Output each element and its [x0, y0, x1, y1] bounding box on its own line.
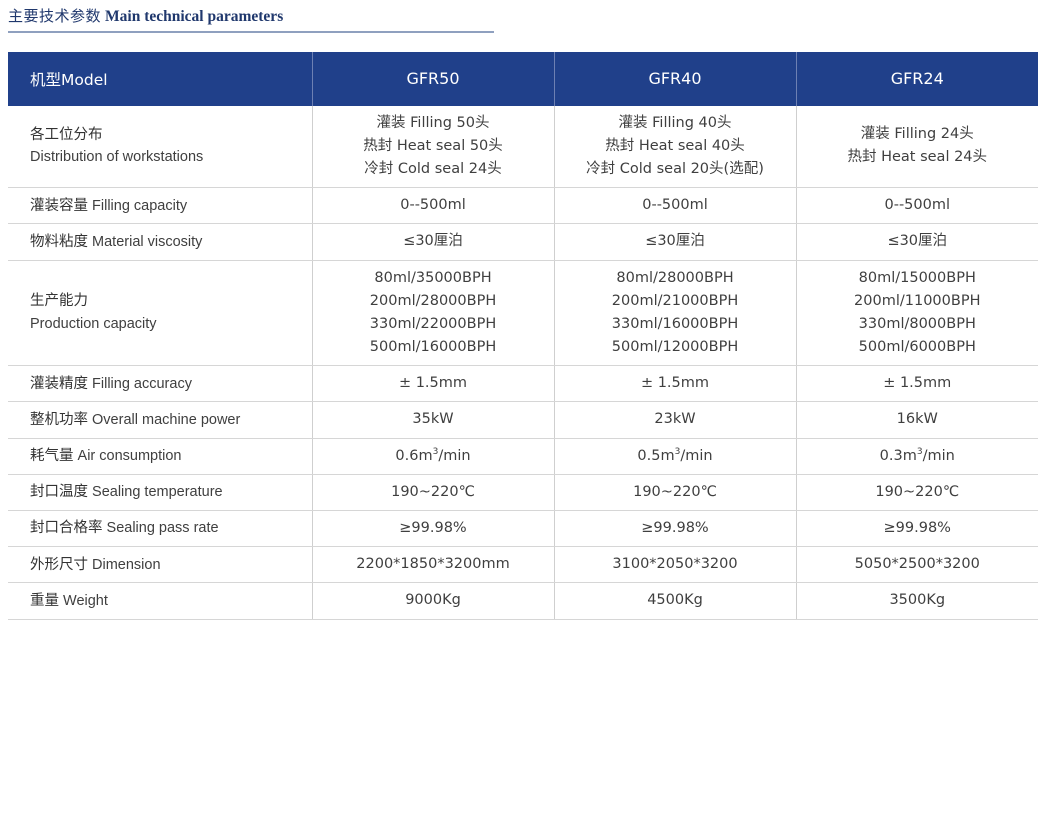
- row-label: 生产能力Production capacity: [8, 260, 312, 366]
- table-row: 物料粘度 Material viscosity≤30厘泊≤30厘泊≤30厘泊: [8, 224, 1038, 260]
- row-label-cn: 灌装容量: [30, 198, 88, 214]
- row-label: 物料粘度 Material viscosity: [8, 224, 312, 260]
- cell-gfr50: 0.6m3/min: [312, 438, 554, 474]
- column-header-gfr50: GFR50: [312, 52, 554, 106]
- table-row: 封口合格率 Sealing pass rate≥99.98%≥99.98%≥99…: [8, 511, 1038, 547]
- row-label-en: Air consumption: [78, 448, 182, 464]
- cell-gfr40: 0.5m3/min: [554, 438, 796, 474]
- column-header-model: 机型Model: [8, 52, 312, 106]
- cell-gfr50: 9000Kg: [312, 583, 554, 619]
- cell-line: 23kW: [555, 408, 796, 431]
- cell-gfr40: 23kW: [554, 402, 796, 438]
- table-row: 封口温度 Sealing temperature190~220℃190~220℃…: [8, 474, 1038, 510]
- row-label: 重量 Weight: [8, 583, 312, 619]
- cell-gfr40: 灌装 Filling 40头热封 Heat seal 40头冷封 Cold se…: [554, 106, 796, 188]
- cell-gfr24: ≥99.98%: [796, 511, 1038, 547]
- cell-line: 冷封 Cold seal 24头: [313, 158, 554, 181]
- cell-line: ≤30厘泊: [797, 230, 1039, 253]
- cell-gfr50: 灌装 Filling 50头热封 Heat seal 50头冷封 Cold se…: [312, 106, 554, 188]
- page-title-en: Main technical parameters: [105, 8, 283, 25]
- cell-gfr50: 35kW: [312, 402, 554, 438]
- row-label-cn: 外形尺寸: [30, 557, 88, 573]
- row-label-en: Sealing temperature: [92, 484, 223, 500]
- cell-gfr50: ≤30厘泊: [312, 224, 554, 260]
- table-body: 各工位分布Distribution of workstations灌装 Fill…: [8, 106, 1038, 620]
- cell-gfr40: ≤30厘泊: [554, 224, 796, 260]
- cell-gfr40: 0--500ml: [554, 188, 796, 224]
- title-underline: [8, 31, 494, 33]
- column-header-gfr24: GFR24: [796, 52, 1038, 106]
- cell-line: 5050*2500*3200: [797, 553, 1039, 576]
- row-label: 整机功率 Overall machine power: [8, 402, 312, 438]
- cell-gfr50: ± 1.5mm: [312, 366, 554, 402]
- cell-line: ± 1.5mm: [797, 372, 1039, 395]
- row-label: 耗气量 Air consumption: [8, 438, 312, 474]
- cell-gfr50: 2200*1850*3200mm: [312, 547, 554, 583]
- cell-line: 热封 Heat seal 50头: [313, 135, 554, 158]
- cell-gfr24: 3500Kg: [796, 583, 1038, 619]
- cell-line: 2200*1850*3200mm: [313, 553, 554, 576]
- cell-line: 热封 Heat seal 40头: [555, 135, 796, 158]
- cell-line: ≥99.98%: [797, 517, 1039, 540]
- table-row: 重量 Weight9000Kg4500Kg3500Kg: [8, 583, 1038, 619]
- cell-line: 0.3m3/min: [797, 445, 1039, 468]
- table-row: 生产能力Production capacity80ml/35000BPH200m…: [8, 260, 1038, 366]
- row-label-en: Material viscosity: [92, 234, 202, 250]
- row-label-en: Sealing pass rate: [107, 520, 219, 536]
- page-title-cn: 主要技术参数: [8, 7, 101, 25]
- table-row: 整机功率 Overall machine power35kW23kW16kW: [8, 402, 1038, 438]
- cell-gfr40: 4500Kg: [554, 583, 796, 619]
- row-label-cn: 物料粘度: [30, 234, 88, 250]
- cell-gfr40: ≥99.98%: [554, 511, 796, 547]
- column-header-gfr40: GFR40: [554, 52, 796, 106]
- row-label-cn: 封口合格率: [30, 520, 103, 536]
- cell-gfr40: 80ml/28000BPH200ml/21000BPH330ml/16000BP…: [554, 260, 796, 366]
- cell-gfr50: 80ml/35000BPH200ml/28000BPH330ml/22000BP…: [312, 260, 554, 366]
- table-row: 耗气量 Air consumption0.6m3/min0.5m3/min0.3…: [8, 438, 1038, 474]
- cell-line: 灌装 Filling 40头: [555, 112, 796, 135]
- cell-line: 冷封 Cold seal 20头(选配): [555, 158, 796, 181]
- table-row: 外形尺寸 Dimension2200*1850*3200mm3100*2050*…: [8, 547, 1038, 583]
- row-label: 封口合格率 Sealing pass rate: [8, 511, 312, 547]
- cell-line: 3500Kg: [797, 589, 1039, 612]
- cell-line: 35kW: [313, 408, 554, 431]
- row-label-cn: 各工位分布: [30, 127, 103, 143]
- row-label: 封口温度 Sealing temperature: [8, 474, 312, 510]
- cell-gfr24: 80ml/15000BPH200ml/11000BPH330ml/8000BPH…: [796, 260, 1038, 366]
- row-label: 各工位分布Distribution of workstations: [8, 106, 312, 188]
- row-label-en: Filling accuracy: [92, 376, 192, 392]
- row-label-en: Production capacity: [30, 316, 157, 332]
- cell-line: 灌装 Filling 24头: [797, 123, 1039, 146]
- cell-line: 80ml/28000BPH: [555, 267, 796, 290]
- cell-line: 0--500ml: [797, 194, 1039, 217]
- cell-gfr50: ≥99.98%: [312, 511, 554, 547]
- row-label-en: Distribution of workstations: [30, 149, 203, 165]
- cell-line: 4500Kg: [555, 589, 796, 612]
- cell-line: 500ml/6000BPH: [797, 336, 1039, 359]
- cell-gfr24: ± 1.5mm: [796, 366, 1038, 402]
- cell-line: ≤30厘泊: [555, 230, 796, 253]
- cell-line: 9000Kg: [313, 589, 554, 612]
- row-label-cn: 耗气量: [30, 448, 74, 464]
- cell-gfr24: 0--500ml: [796, 188, 1038, 224]
- cell-line: 200ml/11000BPH: [797, 290, 1039, 313]
- row-label-en: Overall machine power: [92, 412, 240, 428]
- cell-line: 190~220℃: [313, 481, 554, 504]
- cell-gfr40: 190~220℃: [554, 474, 796, 510]
- table-header: 机型Model GFR50 GFR40 GFR24: [8, 52, 1038, 106]
- cell-line: 0--500ml: [313, 194, 554, 217]
- page-title-block: 主要技术参数Main technical parameters: [0, 0, 494, 33]
- cell-line: ≤30厘泊: [313, 230, 554, 253]
- cell-gfr40: 3100*2050*3200: [554, 547, 796, 583]
- row-label-cn: 封口温度: [30, 484, 88, 500]
- spec-table-wrapper: 机型Model GFR50 GFR40 GFR24 各工位分布Distribut…: [8, 52, 1038, 620]
- cell-line: 200ml/28000BPH: [313, 290, 554, 313]
- cell-line: ± 1.5mm: [555, 372, 796, 395]
- cell-line: 500ml/12000BPH: [555, 336, 796, 359]
- cell-gfr50: 190~220℃: [312, 474, 554, 510]
- cell-line: ± 1.5mm: [313, 372, 554, 395]
- page-title: 主要技术参数Main technical parameters: [8, 8, 494, 26]
- cell-gfr24: 190~220℃: [796, 474, 1038, 510]
- cell-line: 330ml/8000BPH: [797, 313, 1039, 336]
- cell-line: 80ml/35000BPH: [313, 267, 554, 290]
- row-label-cn: 整机功率: [30, 412, 88, 428]
- cell-line: 16kW: [797, 408, 1039, 431]
- cell-line: 190~220℃: [797, 481, 1039, 504]
- cell-line: ≥99.98%: [313, 517, 554, 540]
- cell-gfr40: ± 1.5mm: [554, 366, 796, 402]
- cell-line: 500ml/16000BPH: [313, 336, 554, 359]
- row-label-cn: 灌装精度: [30, 376, 88, 392]
- row-label: 外形尺寸 Dimension: [8, 547, 312, 583]
- cell-gfr24: 5050*2500*3200: [796, 547, 1038, 583]
- table-row: 灌装容量 Filling capacity0--500ml0--500ml0--…: [8, 188, 1038, 224]
- row-label-cn: 生产能力: [30, 293, 88, 309]
- cell-gfr24: 16kW: [796, 402, 1038, 438]
- row-label: 灌装容量 Filling capacity: [8, 188, 312, 224]
- cell-gfr50: 0--500ml: [312, 188, 554, 224]
- table-header-row: 机型Model GFR50 GFR40 GFR24: [8, 52, 1038, 106]
- row-label-cn: 重量: [30, 593, 59, 609]
- cell-line: 灌装 Filling 50头: [313, 112, 554, 135]
- row-label-en: Filling capacity: [92, 198, 187, 214]
- cell-line: 3100*2050*3200: [555, 553, 796, 576]
- cell-line: 0--500ml: [555, 194, 796, 217]
- cell-line: 80ml/15000BPH: [797, 267, 1039, 290]
- cell-gfr24: ≤30厘泊: [796, 224, 1038, 260]
- cell-line: ≥99.98%: [555, 517, 796, 540]
- row-label-en: Dimension: [92, 557, 161, 573]
- row-label: 灌装精度 Filling accuracy: [8, 366, 312, 402]
- cell-line: 0.5m3/min: [555, 445, 796, 468]
- cell-line: 190~220℃: [555, 481, 796, 504]
- cell-gfr24: 0.3m3/min: [796, 438, 1038, 474]
- table-row: 各工位分布Distribution of workstations灌装 Fill…: [8, 106, 1038, 188]
- table-row: 灌装精度 Filling accuracy± 1.5mm± 1.5mm± 1.5…: [8, 366, 1038, 402]
- cell-line: 热封 Heat seal 24头: [797, 146, 1039, 169]
- cell-line: 330ml/22000BPH: [313, 313, 554, 336]
- cell-line: 0.6m3/min: [313, 445, 554, 468]
- cell-line: 330ml/16000BPH: [555, 313, 796, 336]
- cell-line: 200ml/21000BPH: [555, 290, 796, 313]
- row-label-en: Weight: [63, 593, 108, 609]
- technical-parameters-table: 机型Model GFR50 GFR40 GFR24 各工位分布Distribut…: [8, 52, 1038, 620]
- cell-gfr24: 灌装 Filling 24头热封 Heat seal 24头: [796, 106, 1038, 188]
